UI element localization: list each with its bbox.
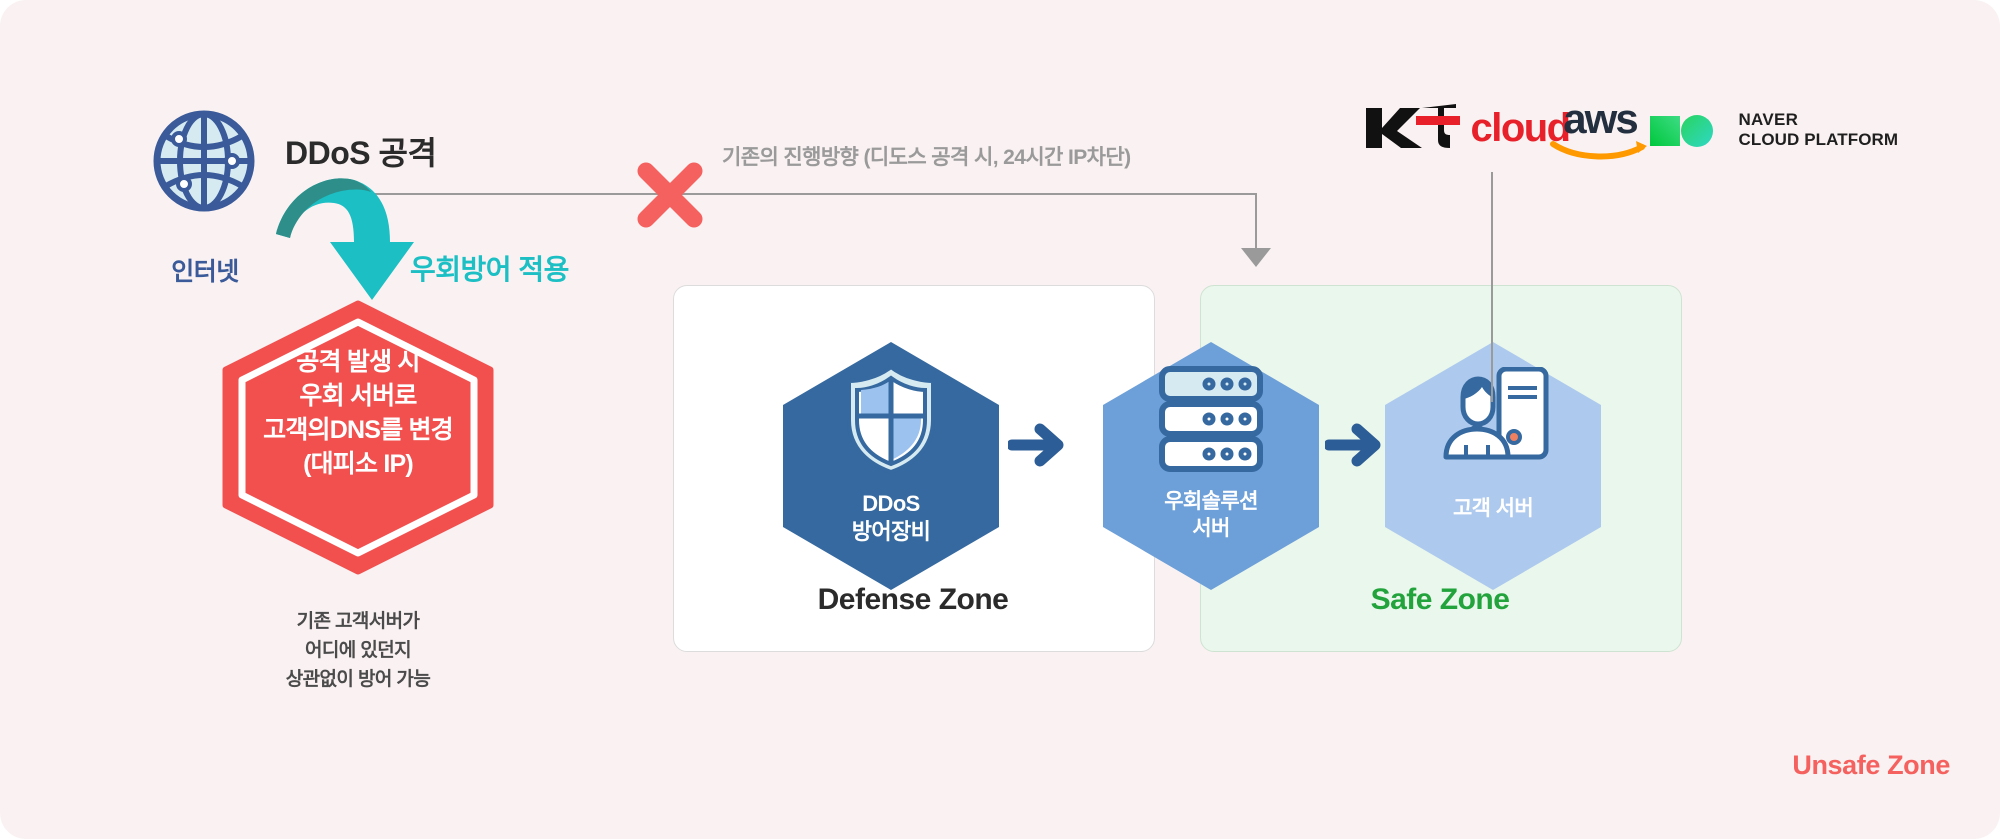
dns-change-hexagon-text: 공격 발생 시 우회 서버로 고객의DNS를 변경 (대피소 IP) — [238, 345, 478, 481]
diagram-canvas: 기존의 진행방향 (디도스 공격 시, 24시간 IP차단) 인터넷 DDoS … — [0, 0, 2000, 839]
legacy-route-arrowhead-icon — [1241, 248, 1271, 267]
hex-line-3: 고객의DNS를 변경 — [238, 413, 478, 447]
aws-swoosh-icon — [1550, 139, 1650, 161]
globe-icon — [148, 105, 260, 217]
naver-cloud-platform-logo: NAVER CLOUD PLATFORM — [1648, 110, 1898, 150]
legacy-route-label: 기존의 진행방향 (디도스 공격 시, 24시간 IP차단) — [722, 141, 1130, 171]
note-line-2: 어디에 있던지 — [228, 637, 488, 666]
aws-logo-text: aws — [1545, 100, 1655, 139]
x-mark-icon — [630, 155, 710, 235]
bypass-caption-line-2: 서버 — [1131, 516, 1291, 543]
shield-icon — [841, 362, 941, 477]
ddos-defense-caption: DDoS 방어장비 — [811, 490, 971, 546]
customer-server-caption: 고객 서버 — [1413, 496, 1573, 523]
note-line-3: 상관없이 방어 가능 — [228, 666, 488, 695]
aws-logo: aws — [1545, 100, 1655, 166]
server-rack-icon — [1157, 365, 1265, 475]
ddos-caption-line-1: DDoS — [811, 490, 971, 518]
kt-cloud-logo: cloud — [1360, 104, 1570, 152]
hex-line-2: 우회 서버로 — [238, 379, 478, 413]
defense-zone-title: Defense Zone — [673, 583, 1153, 617]
legacy-route-line-vertical — [1255, 193, 1257, 251]
safe-zone-title: Safe Zone — [1200, 583, 1680, 617]
internet-label: 인터넷 — [150, 252, 260, 288]
bypass-caption-line-1: 우회솔루션 — [1131, 489, 1291, 516]
flow-arrow-1-icon — [1008, 420, 1070, 470]
bypass-defense-label: 우회방어 적용 — [410, 248, 569, 288]
note-line-1: 기존 고객서버가 — [228, 608, 488, 637]
cloud-provider-connector-line — [1491, 172, 1493, 402]
bypass-solution-caption: 우회솔루션 서버 — [1131, 489, 1291, 543]
naver-logo-line-1: NAVER — [1738, 110, 1898, 130]
legacy-route-line-horizontal — [357, 193, 1257, 195]
user-server-icon — [1440, 367, 1550, 463]
flow-arrow-2-icon — [1325, 420, 1387, 470]
ddos-caption-line-2: 방어장비 — [811, 518, 971, 546]
unsafe-zone-label: Unsafe Zone — [1600, 750, 1950, 781]
customer-caption-line-1: 고객 서버 — [1413, 496, 1573, 523]
naver-logo-line-2: CLOUD PLATFORM — [1738, 130, 1898, 150]
kt-mark-icon — [1360, 104, 1460, 152]
hex-line-4: (대피소 IP) — [238, 447, 478, 481]
hexagon-note: 기존 고객서버가 어디에 있던지 상관없이 방어 가능 — [228, 608, 488, 695]
hex-line-1: 공격 발생 시 — [238, 345, 478, 379]
naver-cloud-mark-icon — [1648, 110, 1728, 150]
